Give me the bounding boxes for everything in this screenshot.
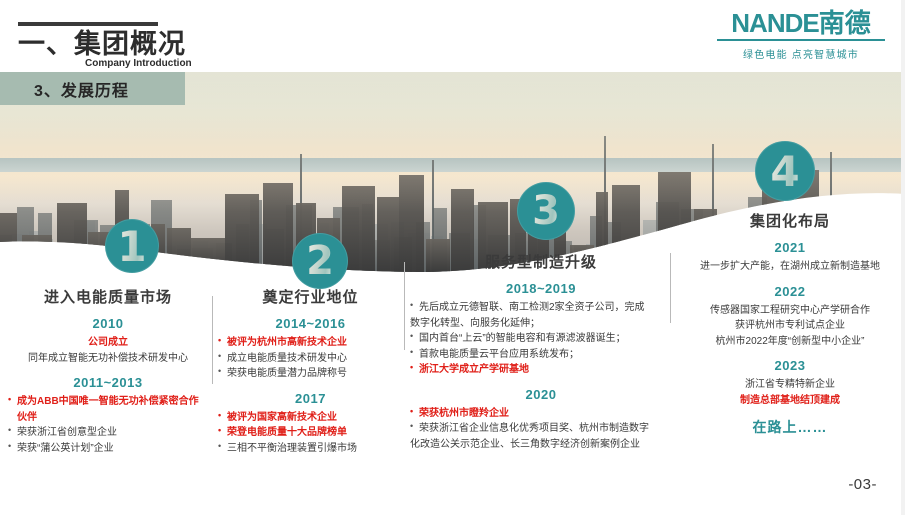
timeline-year-label: 2011~2013 (8, 375, 208, 390)
timeline-column-3: 服务型制造升级2018~2019先后成立元德智联、南工检测2家全资子公司，完成数… (410, 251, 672, 452)
timeline-item: 三相不平衡治理装置引爆市场 (218, 441, 403, 457)
timeline-footer-note: 在路上…… (678, 417, 902, 437)
timeline-item: 同年成立智能无功补偿技术研发中心 (8, 351, 208, 367)
timeline-item: 先后成立元德智联、南工检测2家全资子公司，完成 (410, 300, 672, 316)
timeline-item: 浙江省专精特新企业 (678, 377, 902, 393)
timeline-item: 荣获电能质量潜力品牌称号 (218, 366, 403, 382)
timeline-badge-4-number: 4 (770, 147, 799, 196)
timeline-year-label: 2023 (678, 358, 902, 373)
timeline-item: 荣获浙江省创意型企业 (8, 425, 208, 441)
page-title-english: Company Introduction (85, 58, 192, 69)
timeline-item: 成为ABB中国唯一智能无功补偿紧密合作伙伴 (8, 394, 208, 425)
timeline-item: 荣获浙江省企业信息化优秀项目奖、杭州市制造数字 (410, 421, 672, 437)
timeline-item: 公司成立 (8, 335, 208, 351)
column-divider-2 (404, 262, 405, 350)
timeline-year-label: 2014~2016 (218, 316, 403, 331)
timeline-item: 化改造公关示范企业、长三角数字经济创新案例企业 (410, 437, 672, 453)
timeline-item: 被评为国家高新技术企业 (218, 410, 403, 426)
timeline-item: 荣获“蒲公英计划”企业 (8, 441, 208, 457)
timeline-item: 成立电能质量技术研发中心 (218, 351, 403, 367)
right-edge-strip (901, 0, 905, 515)
column-divider-1 (212, 296, 213, 384)
timeline-column-1: 进入电能质量市场2010公司成立同年成立智能无功补偿技术研发中心2011~201… (8, 286, 208, 456)
timeline-item: 首款电能质量云平台应用系统发布； (410, 347, 672, 363)
timeline-badge-2-number: 2 (306, 238, 334, 284)
page-number: -03- (848, 476, 877, 493)
section-banner: 3、发展历程 (0, 72, 185, 105)
timeline-column-3-title: 服务型制造升级 (410, 251, 672, 272)
timeline-item: 荣获杭州市瞪羚企业 (410, 406, 672, 422)
timeline-item: 被评为杭州市高新技术企业 (218, 335, 403, 351)
timeline-badge-3: 3 (517, 182, 575, 240)
logo-tagline: 绿色电能 点亮智慧城市 (711, 46, 891, 61)
timeline-year-label: 2018~2019 (410, 281, 672, 296)
timeline-year-label: 2020 (410, 387, 672, 402)
timeline-item: 数字化转型、向服务化延伸； (410, 316, 672, 332)
logo-underline (717, 39, 885, 41)
company-logo: NANDE南德 绿色电能 点亮智慧城市 (711, 10, 891, 61)
timeline-badge-3-number: 3 (532, 188, 560, 234)
timeline-badge-1-number: 1 (117, 222, 146, 271)
timeline-item: 制造总部基地结顶建成 (678, 393, 902, 409)
timeline-item: 杭州市2022年度“创新型中小企业” (678, 334, 902, 350)
timeline-item: 获评杭州市专利试点企业 (678, 318, 902, 334)
timeline-badge-2: 2 (292, 233, 348, 289)
logo-latin: NANDE (731, 8, 818, 38)
timeline-column-1-title: 进入电能质量市场 (8, 286, 208, 307)
section-banner-label: 3、发展历程 (34, 77, 129, 101)
timeline-year-label: 2021 (678, 240, 902, 255)
timeline-item: 国内首台“上云”的智能电容和有源滤波器诞生； (410, 331, 672, 347)
timeline-item: 荣登电能质量十大品牌榜单 (218, 425, 403, 441)
timeline-column-2: 奠定行业地位2014~2016被评为杭州市高新技术企业成立电能质量技术研发中心荣… (218, 286, 403, 456)
timeline-year-label: 2017 (218, 391, 403, 406)
timeline-column-2-title: 奠定行业地位 (218, 286, 403, 307)
timeline-column-4: 集团化布局2021进一步扩大产能，在湖州成立新制造基地2022传感器国家工程研究… (678, 210, 902, 437)
timeline-badge-4: 4 (755, 141, 815, 201)
slide-root: 一、集团概况 Company Introduction 3、发展历程 NANDE… (0, 0, 905, 515)
logo-chinese: 南德 (819, 8, 871, 38)
timeline-badge-1: 1 (105, 219, 159, 273)
timeline-item: 浙江大学成立产学研基地 (410, 362, 672, 378)
logo-wordmark: NANDE南德 (711, 10, 891, 37)
timeline-item: 进一步扩大产能，在湖州成立新制造基地 (678, 259, 902, 275)
timeline-year-label: 2022 (678, 284, 902, 299)
timeline-year-label: 2010 (8, 316, 208, 331)
page-title: 一、集团概况 (18, 22, 186, 61)
timeline-item: 传感器国家工程研究中心产学研合作 (678, 303, 902, 319)
timeline-column-4-title: 集团化布局 (678, 210, 902, 231)
